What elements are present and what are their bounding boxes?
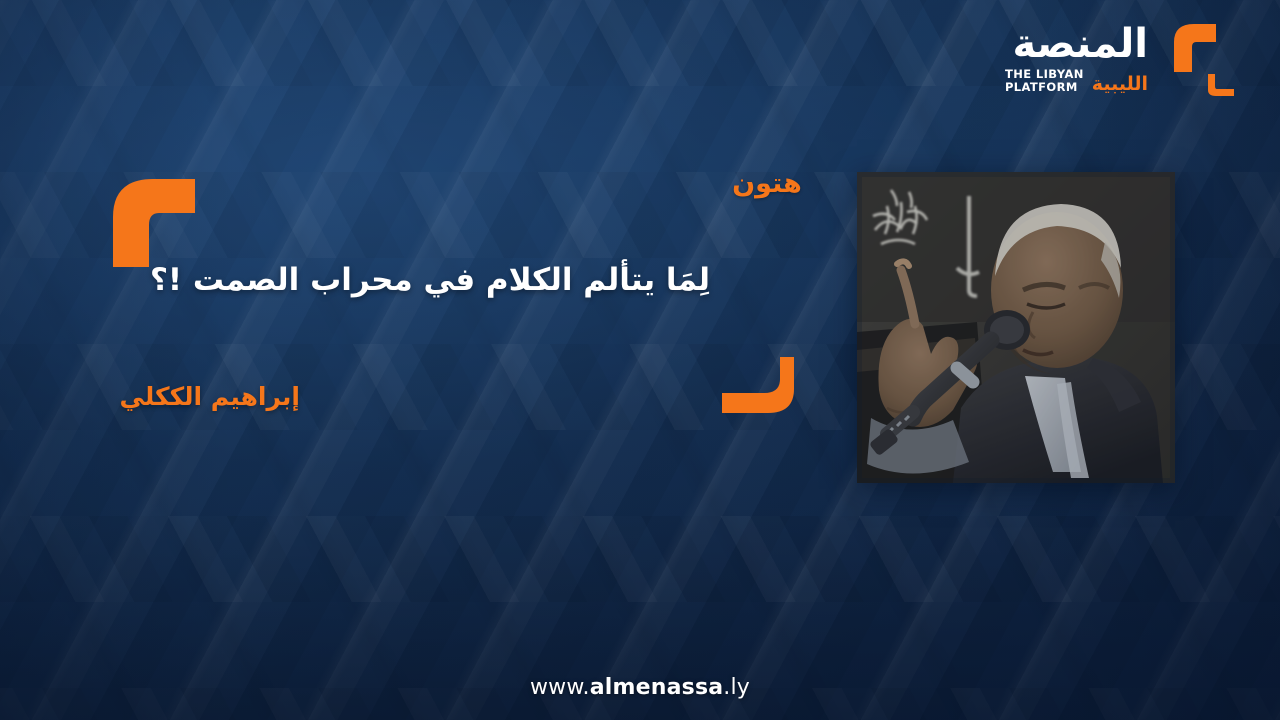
brand-logo[interactable]: المنصة THE LIBYAN PLATFORM الليبية: [1005, 22, 1232, 96]
brand-logo-english: THE LIBYAN PLATFORM: [1005, 68, 1084, 94]
brand-logo-subrow: THE LIBYAN PLATFORM الليبية: [1005, 68, 1148, 94]
brand-logo-text: المنصة THE LIBYAN PLATFORM الليبية: [1005, 24, 1148, 94]
kicker-label: هتون: [712, 168, 822, 199]
logo-mark-icon: [1158, 22, 1232, 96]
quote-close-icon: [718, 355, 796, 417]
footer-website-url[interactable]: www.almenassa.ly: [0, 675, 1280, 700]
quote-card: المنصة THE LIBYAN PLATFORM الليبية هتون: [0, 0, 1280, 720]
brand-logo-english-line2: PLATFORM: [1005, 81, 1084, 94]
footer-url-prefix: www.: [530, 675, 590, 700]
footer-url-suffix: .ly: [723, 675, 750, 700]
author-name: إبراهيم الككلي: [0, 382, 300, 411]
brand-logo-arabic-subtitle: الليبية: [1092, 75, 1148, 94]
brand-logo-arabic-title: المنصة: [1012, 24, 1148, 64]
quote-open-icon: [95, 175, 197, 267]
portrait-photo: [857, 172, 1175, 483]
headline-text: لِمَا يتألم الكلام في محراب الصمت !؟: [150, 262, 710, 298]
footer-url-name: almenassa: [590, 675, 724, 700]
